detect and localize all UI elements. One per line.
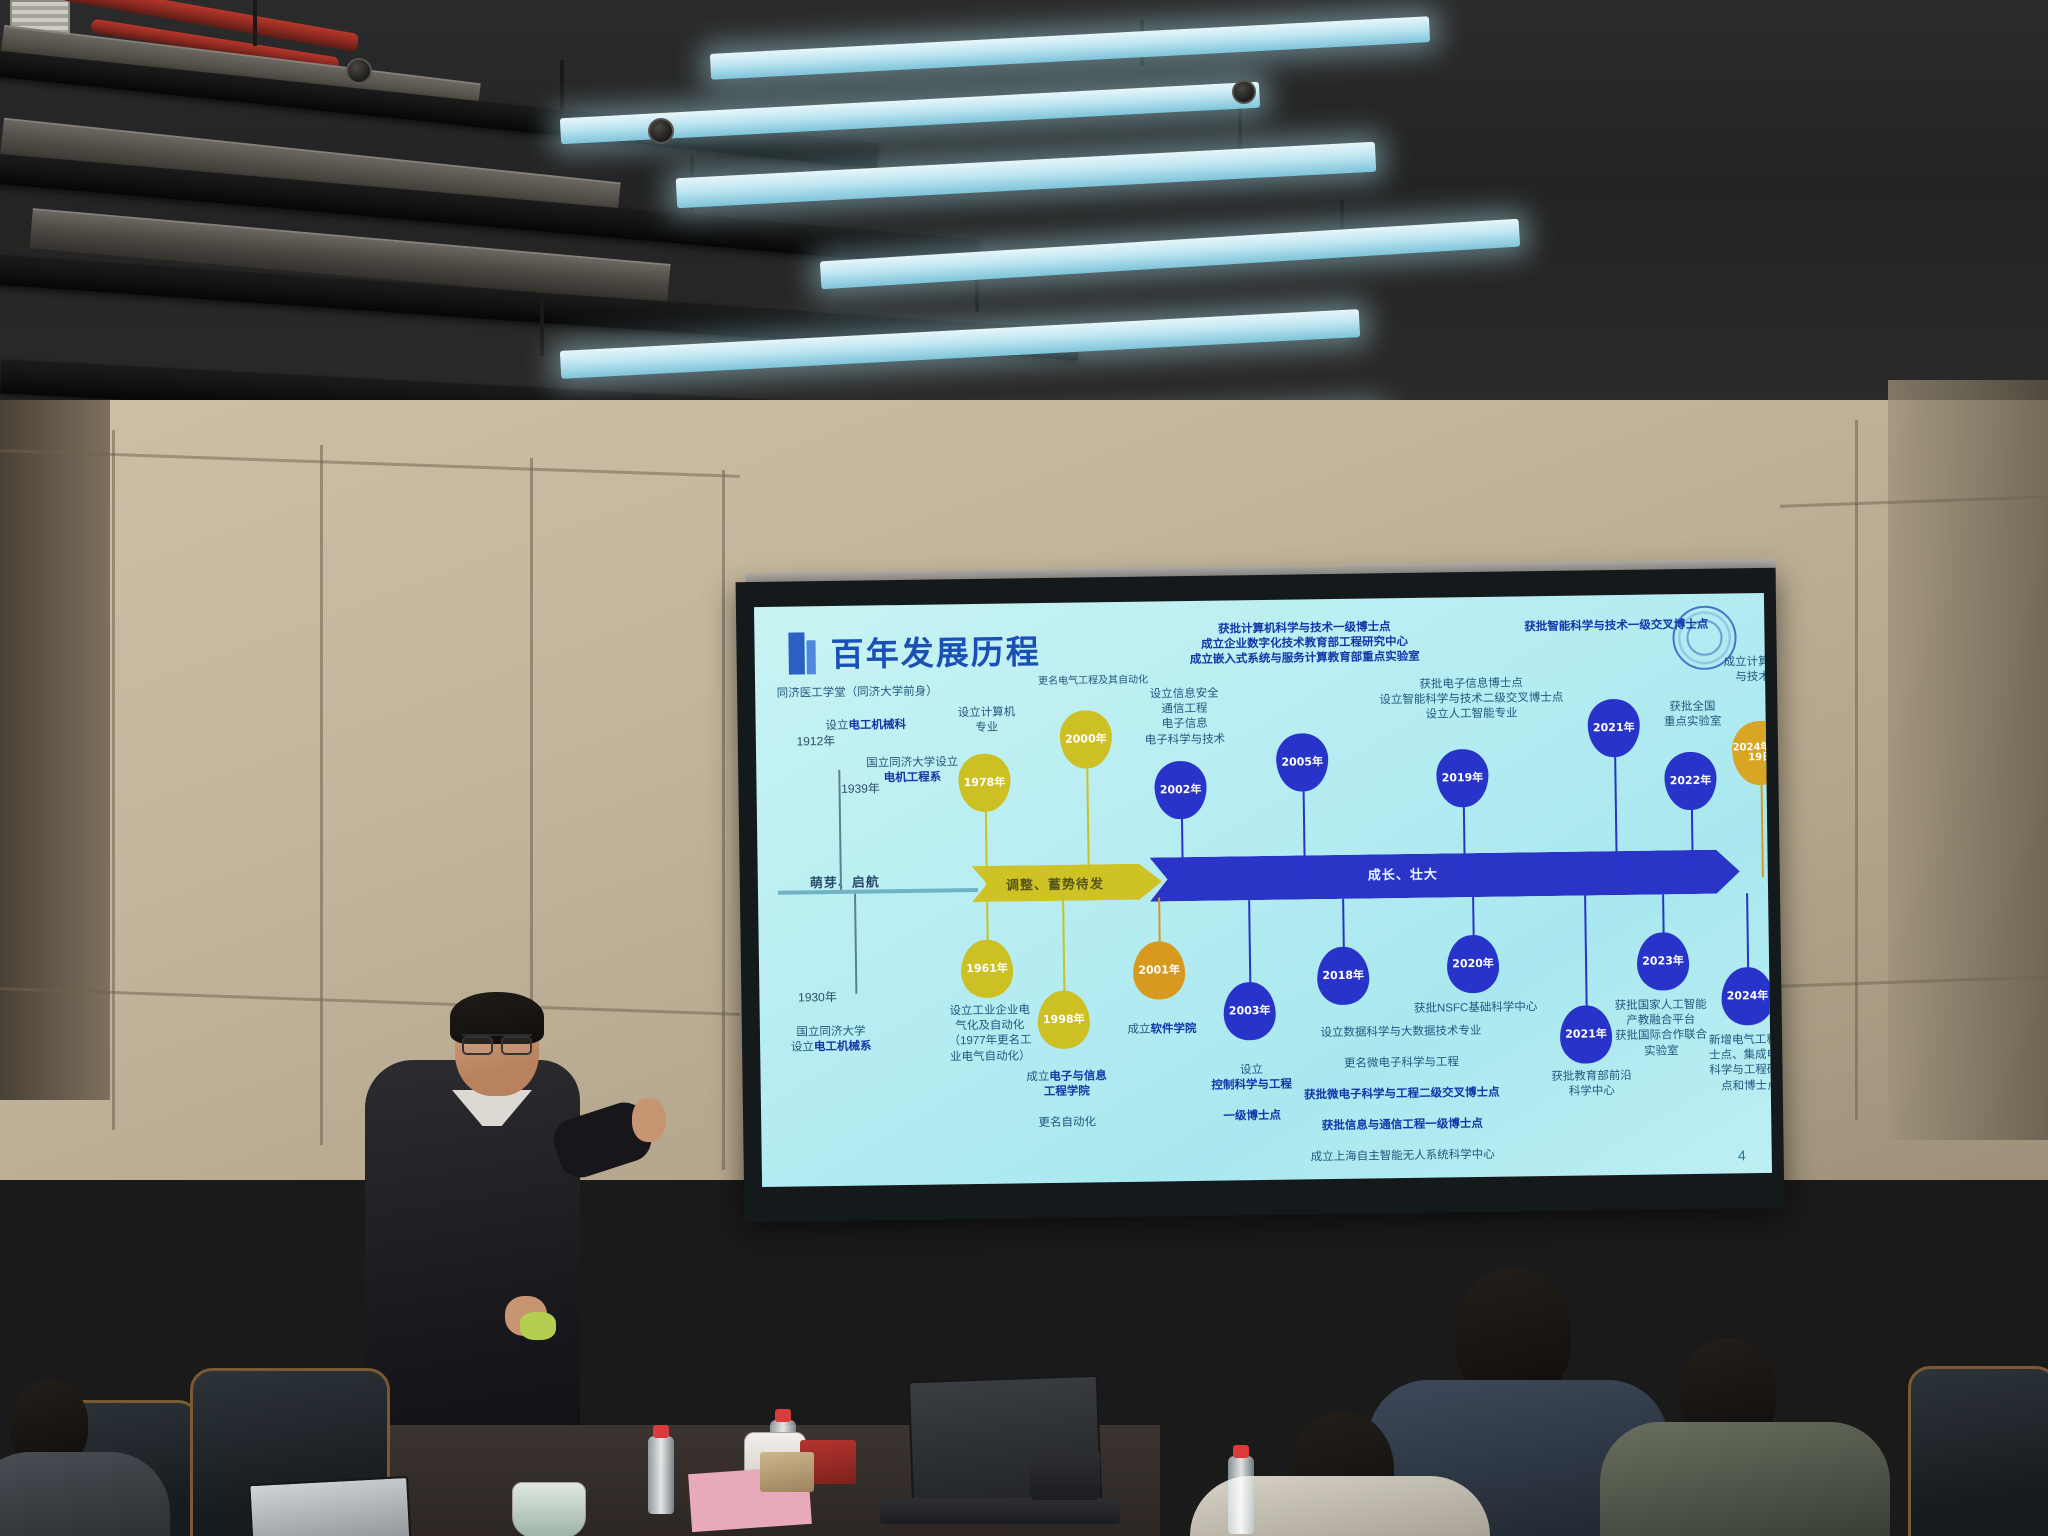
milestone-text-1998: 成立电子与信息 工程学院 更名自动化 — [996, 1054, 1137, 1147]
milestone-balloon-1978[interactable]: 1978年 — [958, 754, 1011, 813]
milestone-balloon-2005[interactable]: 2005年 — [1276, 733, 1329, 792]
milestone-balloon-2018[interactable]: 2018年 — [1317, 947, 1370, 1006]
milestone-text-2020: 获批NSFC基础科学中心 — [1376, 1000, 1576, 1018]
milestone-balloon-1961[interactable]: 1961年 — [961, 940, 1014, 999]
milestone-stem-2001 — [1158, 897, 1161, 947]
audience-body-left — [0, 1452, 170, 1536]
water-bottle-3 — [1228, 1456, 1254, 1534]
milestone-text-2005: 获批计算机科学与技术一级博士点 成立企业数字化技术教育部工程研究中心 成立嵌入式… — [1084, 618, 1525, 670]
slide-title: 百年发展历程 — [830, 625, 1041, 676]
milestone-balloon-2002[interactable]: 2002年 — [1154, 761, 1207, 820]
milestone-text-2018: 设立数据科学与大数据技术专业 更名微电子科学与工程 获批微电子科学与工程二级交叉… — [1276, 1008, 1528, 1181]
slide-page-number: 4 — [1738, 1147, 1746, 1163]
wooden-box — [760, 1452, 814, 1492]
intro-highlight: 电工机械科 — [848, 719, 906, 732]
milestone-stem-2019 — [1463, 803, 1466, 881]
milestone-text-1998-line2: 工程学院 — [997, 1084, 1137, 1101]
milestone-text-1978: 设立计算机 专业 — [931, 705, 1041, 737]
milestone-stem-2024-sep — [1761, 783, 1764, 877]
milestone-text-2019: 获批电子信息博士点 设立智能科学与技术二级交叉博士点 设立人工智能专业 — [1351, 675, 1592, 724]
milestone-balloon-2023[interactable]: 2023年 — [1637, 932, 1690, 991]
wall-seam — [320, 445, 323, 1145]
milestone-highlight-1930: 电工机械系 — [814, 1041, 872, 1054]
milestone-stem-2000 — [1086, 766, 1090, 886]
presentation-clicker[interactable] — [520, 1312, 556, 1340]
wall-right-dark-panel — [1888, 380, 2048, 1140]
milestone-stem-1978 — [985, 808, 988, 888]
light-hanger — [560, 60, 564, 122]
milestone-text-1930: 国立同济大学 设立电工机械系 — [766, 1009, 897, 1071]
milestone-stem-2005 — [1303, 789, 1306, 883]
milestone-balloon-2003[interactable]: 2003年 — [1223, 982, 1276, 1041]
milestone-stem-1930 — [854, 894, 857, 994]
milestone-text-1998-line3: 更名自动化 — [997, 1114, 1137, 1131]
milestone-caption-2000: 更名电气工程及其自动化 — [1003, 673, 1183, 689]
milestone-stem-2021-upper — [1614, 755, 1618, 879]
light-hanger — [540, 300, 544, 356]
audience-body-far-right — [1600, 1422, 1890, 1536]
wall-seam — [722, 470, 725, 1170]
milestone-text-2024-sep: 成立计算机科学 与技术学院 — [1699, 654, 1772, 686]
milestone-balloon-2022[interactable]: 2022年 — [1664, 752, 1717, 811]
milestone-text-2024: 新增电气工程博 士点、集成电路 科学与工程硕士 点和博士点 — [1690, 1032, 1772, 1094]
wall-seam — [1855, 420, 1858, 1120]
ceiling-speaker — [346, 58, 372, 84]
intro-prefix: 设立 — [825, 720, 848, 732]
presenter-glasses — [462, 1034, 532, 1049]
milestone-text-2018-l5: 成立上海自主智能无人系统科学中心 — [1278, 1147, 1528, 1166]
phase-label-1: 萌芽、启航 — [810, 871, 880, 891]
light-hanger — [253, 0, 257, 46]
milestone-text-2002: 设立信息安全 通信工程 电子信息 电子科学与技术 — [1119, 686, 1250, 748]
timeline-segment-late — [1150, 849, 1741, 901]
milestone-stem-1998 — [1062, 899, 1065, 997]
presenter-hand-raised — [632, 1098, 666, 1142]
water-bottle-1 — [648, 1436, 674, 1514]
milestone-year-1930: 1930年 — [785, 990, 849, 1007]
microphone-base — [1030, 1450, 1100, 1500]
milestone-stem-2021-lower — [1584, 895, 1588, 1011]
ceiling-speaker — [648, 118, 674, 144]
ceiling-speaker — [1232, 80, 1256, 104]
milestone-stem-2003 — [1248, 900, 1251, 988]
presentation-slide: 百年发展历程 同济医工学堂（同济大学前身） 设立电工机械科 萌芽、启航 调整、蓄… — [754, 593, 1772, 1187]
intro-line-1: 同济医工学堂（同济大学前身） — [754, 684, 967, 702]
milestone-stem-2018 — [1342, 899, 1345, 953]
milestone-balloon-1998[interactable]: 1998年 — [1037, 990, 1090, 1049]
wall-seam — [112, 430, 115, 1130]
milestone-stem-2022 — [1691, 806, 1694, 878]
milestone-text-2021-lower: 获批教育部前沿 科学中心 — [1527, 1069, 1657, 1101]
milestone-balloon-2001[interactable]: 2001年 — [1133, 941, 1186, 1000]
milestone-text-2018-l3: 获批微电子科学与工程二级交叉博士点 — [1277, 1085, 1527, 1104]
milestone-highlight-1998: 电子与信息 — [1049, 1070, 1107, 1083]
wall-left-dark-panel — [0, 400, 110, 1100]
milestone-stem-2024 — [1746, 893, 1749, 973]
milestone-text-2018-l4: 获批信息与通信工程一级博士点 — [1277, 1116, 1527, 1135]
milestone-balloon-2019[interactable]: 2019年 — [1436, 749, 1489, 808]
laptop-base-center — [880, 1498, 1120, 1524]
milestone-text-2001: 成立软件学院 — [1102, 1007, 1222, 1039]
milestone-balloon-2000[interactable]: 2000年 — [1059, 710, 1112, 769]
milestone-text-2018-l2: 更名微电子科学与工程 — [1276, 1055, 1526, 1074]
title-accent-bar-secondary — [806, 640, 815, 674]
chair-right-2 — [1908, 1366, 2048, 1536]
tea-cup-teal — [512, 1482, 586, 1536]
milestone-balloon-2020[interactable]: 2020年 — [1447, 935, 1500, 994]
conference-room-scene: 百年发展历程 同济医工学堂（同济大学前身） 设立电工机械科 萌芽、启航 调整、蓄… — [0, 0, 2048, 1536]
title-accent-bar — [788, 632, 805, 674]
milestone-balloon-2024[interactable]: 2024年 — [1721, 967, 1772, 1026]
milestone-text-2022: 获批全国 重点实验室 — [1637, 699, 1747, 731]
milestone-text-2018-l1: 设立数据科学与大数据技术专业 — [1276, 1024, 1526, 1043]
milestone-year-1939: 1939年 — [830, 781, 890, 798]
milestone-highlight-2001: 软件学院 — [1150, 1023, 1196, 1036]
milestone-year-1912: 1912年 — [786, 734, 846, 751]
phase-label-3: 成长、壮大 — [1368, 864, 1438, 884]
milestone-balloon-2021-upper[interactable]: 2021年 — [1587, 699, 1640, 758]
laptop-lid-left — [248, 1476, 411, 1536]
milestone-stem-2002 — [1181, 815, 1184, 885]
milestone-text-1930-line2: 设立电工机械系 — [766, 1039, 896, 1056]
